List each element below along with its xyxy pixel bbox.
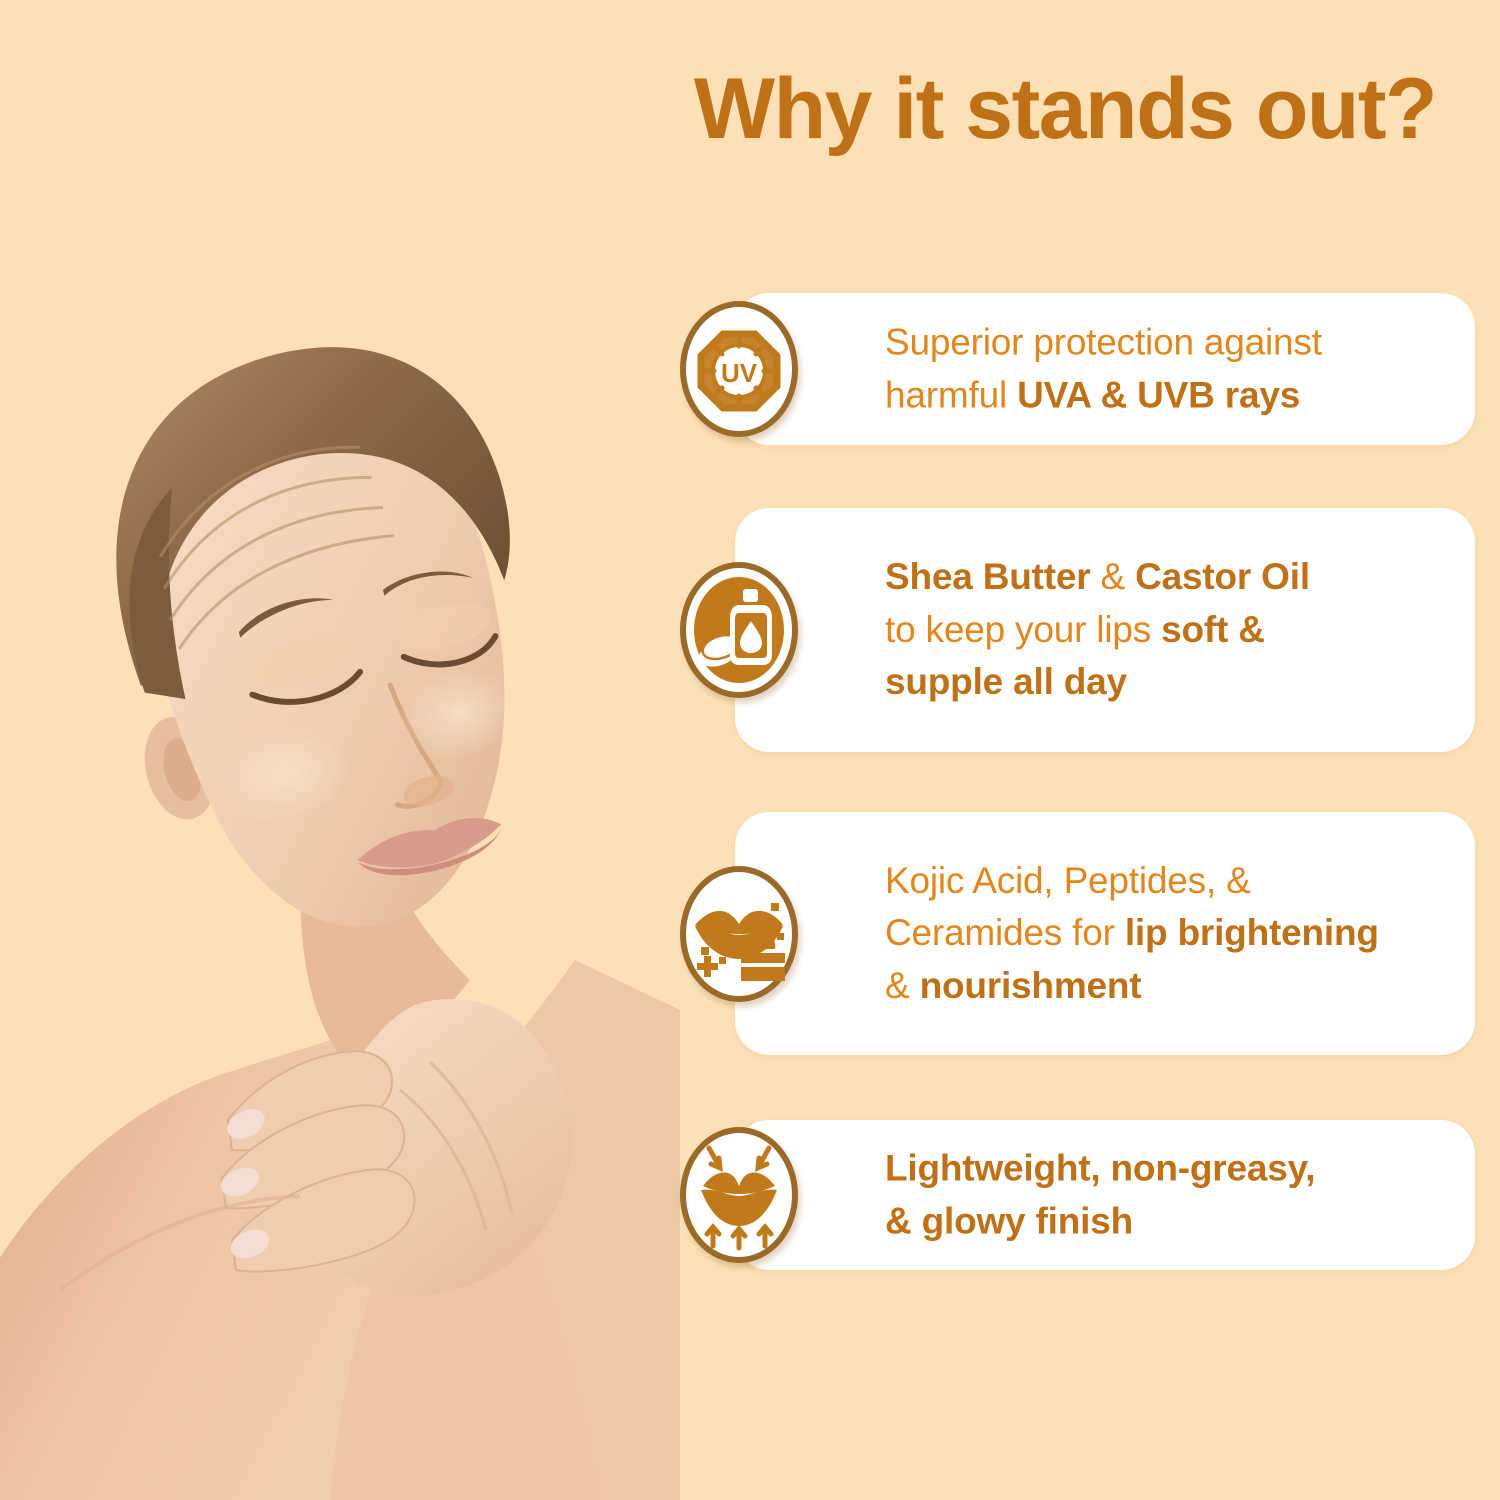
uv-icon-label: UV bbox=[721, 358, 758, 388]
feature-line: Shea Butter & Castor Oil bbox=[885, 551, 1445, 604]
oil-bottle-icon bbox=[677, 559, 801, 701]
feature-line: supple all day bbox=[885, 656, 1445, 709]
feature-card-text-2: Shea Butter & Castor Oil to keep your li… bbox=[885, 551, 1445, 709]
model-photo-illustration bbox=[0, 0, 680, 1500]
feature-card-shea-butter[interactable]: Shea Butter & Castor Oil to keep your li… bbox=[735, 508, 1475, 752]
feature-line: & nourishment bbox=[885, 960, 1445, 1013]
feature-card-lightweight[interactable]: Lightweight, non-greasy, & glowy finish bbox=[735, 1120, 1475, 1270]
lips-sparkle-icon bbox=[677, 863, 801, 1005]
feature-line: Superior protection against bbox=[885, 316, 1445, 369]
lips-sparkle-icon-svg bbox=[677, 863, 801, 1005]
model-photo bbox=[0, 0, 680, 1500]
promo-graphic: Why it stands out? bbox=[0, 0, 1500, 1500]
feature-line: to keep your lips soft & bbox=[885, 604, 1445, 657]
uv-shield-icon-svg: UV bbox=[677, 298, 801, 440]
lips-arrows-icon-svg bbox=[677, 1124, 801, 1266]
feature-card-text-3: Kojic Acid, Peptides, & Ceramides for li… bbox=[885, 855, 1445, 1013]
feature-card-text-4: Lightweight, non-greasy, & glowy finish bbox=[885, 1142, 1445, 1247]
feature-line: Kojic Acid, Peptides, & bbox=[885, 855, 1445, 908]
feature-card-kojic-acid[interactable]: Kojic Acid, Peptides, & Ceramides for li… bbox=[735, 812, 1475, 1055]
uv-shield-icon: UV bbox=[677, 298, 801, 440]
feature-line: harmful UVA & UVB rays bbox=[885, 369, 1445, 422]
lips-arrows-icon bbox=[677, 1124, 801, 1266]
feature-card-text-1: Superior protection against harmful UVA … bbox=[885, 316, 1445, 421]
feature-line: Ceramides for lip brightening bbox=[885, 907, 1445, 960]
feature-line: & glowy finish bbox=[885, 1195, 1445, 1248]
oil-bottle-icon-svg bbox=[677, 559, 801, 701]
feature-card-uv-protection[interactable]: UV Superior protection against harmful U… bbox=[735, 293, 1475, 445]
feature-line: Lightweight, non-greasy, bbox=[885, 1142, 1445, 1195]
page-title: Why it stands out? bbox=[640, 64, 1490, 154]
